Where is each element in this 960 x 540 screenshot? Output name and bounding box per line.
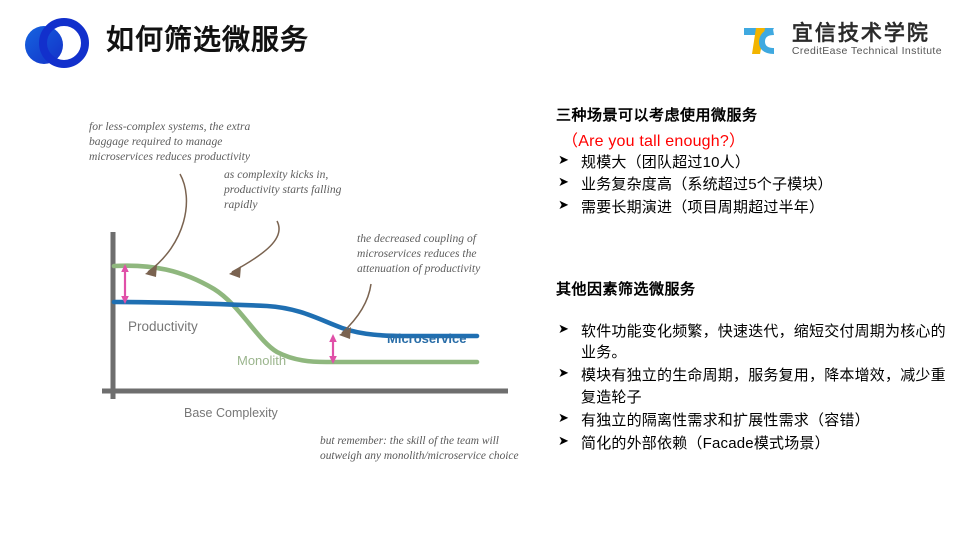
tc-monogram-icon — [740, 20, 782, 60]
annotation-2-line-3: rapidly — [224, 198, 258, 211]
scenarios-heading: 三种场景可以考虑使用微服务 — [556, 104, 948, 125]
left-gap-arrow — [121, 264, 129, 304]
institute-name-en: CreditEase Technical Institute — [792, 46, 942, 57]
list-item-label: 规模大（团队超过10人） — [581, 154, 750, 171]
list-item: ➤ 需要长期演进（项目周期超过半年） — [556, 197, 948, 218]
other-factors-list: ➤ 软件功能变化频繁，快速迭代，缩短交付周期为核心的业务。 ➤ 模块有独立的生命… — [556, 321, 948, 455]
annotation-decreased-coupling: the decreased coupling of microservices … — [357, 232, 481, 275]
series-line-monolith — [114, 266, 477, 362]
annotation-1-line-1: for less-complex systems, the extra — [89, 120, 251, 133]
list-item: ➤ 有独立的隔离性需求和扩展性需求（容错） — [556, 410, 948, 431]
other-factors-block: 其他因素筛选微服务 ➤ 软件功能变化频繁，快速迭代，缩短交付周期为核心的业务。 … — [556, 278, 948, 455]
annotation-3-line-3: attenuation of productivity — [357, 262, 481, 275]
annotation-3-line-2: microservices reduces the — [357, 247, 477, 260]
institute-name-cn: 宜信技术学院 — [792, 23, 942, 46]
list-item-label: 需要长期演进（项目周期超过半年） — [581, 199, 824, 216]
series-label-microservice: Microservice — [387, 331, 467, 346]
annotation-2-line-1: as complexity kicks in, — [224, 168, 328, 181]
other-factors-heading: 其他因素筛选微服务 — [556, 278, 948, 299]
list-item: ➤ 模块有独立的生命周期，服务复用，降本增效，减少重复造轮子 — [556, 365, 948, 408]
axis-label-base-complexity: Base Complexity — [184, 406, 279, 420]
series-label-monolith: Monolith — [237, 353, 286, 368]
axis-label-productivity: Productivity — [128, 319, 198, 334]
list-item: ➤ 软件功能变化频繁，快速迭代，缩短交付周期为核心的业务。 — [556, 321, 948, 364]
list-item-label: 有独立的隔离性需求和扩展性需求（容错） — [581, 412, 870, 429]
chart-svg: for less-complex systems, the extra bagg… — [62, 114, 532, 486]
triangle-right-bullet-icon: ➤ — [558, 321, 569, 339]
two-overlapping-circles-icon — [14, 18, 98, 70]
content-column: 三种场景可以考虑使用微服务 （Are you tall enough?） ➤ 规… — [556, 104, 948, 457]
list-item: ➤ 简化的外部依赖（Facade模式场景） — [556, 433, 948, 454]
annotation-1-line-3: microservices reduces productivity — [89, 150, 251, 163]
triangle-right-bullet-icon: ➤ — [558, 197, 569, 215]
annotation-1-line-2: baggage required to manage — [89, 135, 222, 148]
list-item-label: 简化的外部依赖（Facade模式场景） — [581, 435, 830, 452]
triangle-right-bullet-icon: ➤ — [558, 410, 569, 428]
triangle-right-bullet-icon: ➤ — [558, 152, 569, 170]
slide-header: 如何筛选微服务 宜信技术学院 CreditEase Technical Inst… — [0, 0, 960, 88]
right-gap-arrow — [329, 334, 337, 364]
annotation-3-line-1: the decreased coupling of — [357, 232, 478, 245]
triangle-right-bullet-icon: ➤ — [558, 174, 569, 192]
annotation-leader-arrows — [148, 174, 371, 333]
institute-logo: 宜信技术学院 CreditEase Technical Institute — [740, 20, 942, 60]
triangle-right-bullet-icon: ➤ — [558, 433, 569, 451]
annotation-4-line-2: outweigh any monolith/microservice choic… — [320, 450, 519, 462]
scenarios-subtitle: （Are you tall enough?） — [562, 127, 948, 151]
list-item-label: 软件功能变化频繁，快速迭代，缩短交付周期为核心的业务。 — [581, 323, 946, 361]
annotation-less-complex-systems: for less-complex systems, the extra bagg… — [89, 120, 251, 163]
scenarios-block: 三种场景可以考虑使用微服务 （Are you tall enough?） ➤ 规… — [556, 104, 948, 218]
productivity-vs-complexity-chart: for less-complex systems, the extra bagg… — [62, 114, 532, 486]
page-title: 如何筛选微服务 — [106, 18, 309, 58]
scenarios-list: ➤ 规模大（团队超过10人） ➤ 业务复杂度高（系统超过5个子模块） ➤ 需要长… — [556, 152, 948, 218]
annotation-4-line-1: but remember: the skill of the team will — [320, 435, 499, 447]
list-item-label: 模块有独立的生命周期，服务复用，降本增效，减少重复造轮子 — [581, 367, 946, 405]
list-item-label: 业务复杂度高（系统超过5个子模块） — [581, 176, 833, 193]
annotation-team-skill-note: but remember: the skill of the team will… — [320, 435, 519, 462]
triangle-right-bullet-icon: ➤ — [558, 365, 569, 383]
list-item: ➤ 业务复杂度高（系统超过5个子模块） — [556, 174, 948, 195]
list-item: ➤ 规模大（团队超过10人） — [556, 152, 948, 173]
annotation-complexity-kicks-in: as complexity kicks in, productivity sta… — [223, 168, 342, 211]
annotation-2-line-2: productivity starts falling — [223, 183, 342, 196]
